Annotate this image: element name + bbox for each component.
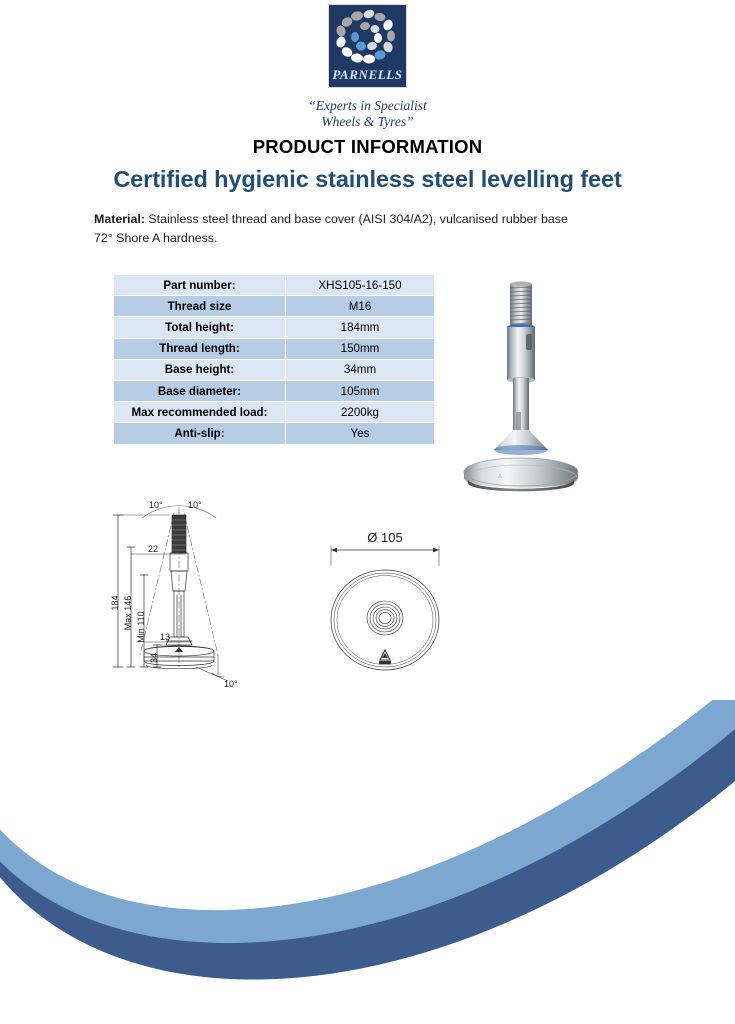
- spec-key: Anti-slip:: [114, 423, 286, 444]
- spec-value: 184mm: [286, 317, 435, 338]
- spec-key: Total height:: [114, 317, 286, 338]
- company-logo-block: PARNELLS “Experts in Specialist Wheels &…: [0, 4, 735, 130]
- footer-decorative-swoosh: [0, 700, 735, 1024]
- spec-value: XHS105-16-150: [286, 275, 435, 296]
- technical-drawing-plan-view: Ø 105: [300, 520, 470, 685]
- spec-key: Base diameter:: [114, 380, 286, 401]
- spec-value: 105mm: [286, 380, 435, 401]
- swoosh-dark-arc: [0, 700, 735, 980]
- product-photo-levelling-foot: ◬: [452, 272, 628, 500]
- spec-value: 2200kg: [286, 402, 435, 423]
- spec-key: Part number:: [114, 275, 286, 296]
- table-row: Base diameter:105mm: [114, 380, 435, 401]
- dim-max146-label: Max 146: [123, 596, 133, 631]
- logo-wordmark: PARNELLS: [329, 67, 406, 83]
- material-description: Material: Stainless steel thread and bas…: [94, 210, 634, 248]
- specification-table-body: Part number:XHS105-16-150 Thread sizeM16…: [114, 275, 435, 445]
- table-row: Thread length:150mm: [114, 338, 435, 359]
- dim-34-label: 34: [149, 653, 159, 663]
- table-row: Anti-slip:Yes: [114, 423, 435, 444]
- technical-drawing-side-elevation: 10° 10° 22 13 10° 184 Max 146 Min 110 34: [100, 495, 310, 700]
- dim-angle-right-label: 10°: [188, 500, 202, 510]
- logo-tagline-line2: Wheels & Tyres”: [0, 114, 735, 130]
- threaded-stud: [510, 281, 532, 327]
- dim-diameter-label: Ø 105: [367, 530, 402, 545]
- material-line-2: 72° Shore A hardness.: [94, 229, 634, 248]
- product-information-heading: PRODUCT INFORMATION: [0, 136, 735, 158]
- document-page: PARNELLS “Experts in Specialist Wheels &…: [0, 0, 735, 1024]
- dim-angle-base-label: 10°: [224, 679, 238, 689]
- svg-text:◬: ◬: [498, 473, 502, 479]
- material-text-1: Stainless steel thread and base cover (A…: [145, 212, 568, 226]
- table-row: Base height:34mm: [114, 359, 435, 380]
- spec-key: Thread length:: [114, 338, 286, 359]
- spec-value: 150mm: [286, 338, 435, 359]
- spec-value: Yes: [286, 423, 435, 444]
- parnells-logo-badge: PARNELLS: [328, 4, 407, 88]
- spanner-body: [507, 327, 535, 383]
- spec-value: M16: [286, 296, 435, 317]
- dim-184-label: 184: [110, 595, 120, 610]
- specification-table: Part number:XHS105-16-150 Thread sizeM16…: [113, 274, 435, 445]
- spec-key: Max recommended load:: [114, 402, 286, 423]
- dim-22-label: 22: [148, 544, 158, 554]
- logo-tagline-line1: “Experts in Specialist: [0, 98, 735, 114]
- material-label: Material:: [94, 212, 145, 226]
- dim-min110-label: Min 110: [136, 611, 146, 642]
- material-line-1: Material: Stainless steel thread and bas…: [94, 210, 634, 229]
- table-row: Total height:184mm: [114, 317, 435, 338]
- base-mark-icon: [379, 650, 391, 664]
- dim-13-label: 13: [160, 632, 170, 642]
- spec-key: Thread size: [114, 296, 286, 317]
- table-row: Part number:XHS105-16-150: [114, 275, 435, 296]
- table-row: Max recommended load:2200kg: [114, 402, 435, 423]
- base-blue-ring: [494, 445, 548, 455]
- page-title: Certified hygienic stainless steel level…: [0, 166, 735, 193]
- spec-value: 34mm: [286, 359, 435, 380]
- table-row: Thread sizeM16: [114, 296, 435, 317]
- logo-tagline: “Experts in Specialist Wheels & Tyres”: [0, 98, 735, 130]
- dim-angle-left-label: 10°: [149, 500, 163, 510]
- base-cover: ◬: [464, 458, 578, 491]
- spec-key: Base height:: [114, 359, 286, 380]
